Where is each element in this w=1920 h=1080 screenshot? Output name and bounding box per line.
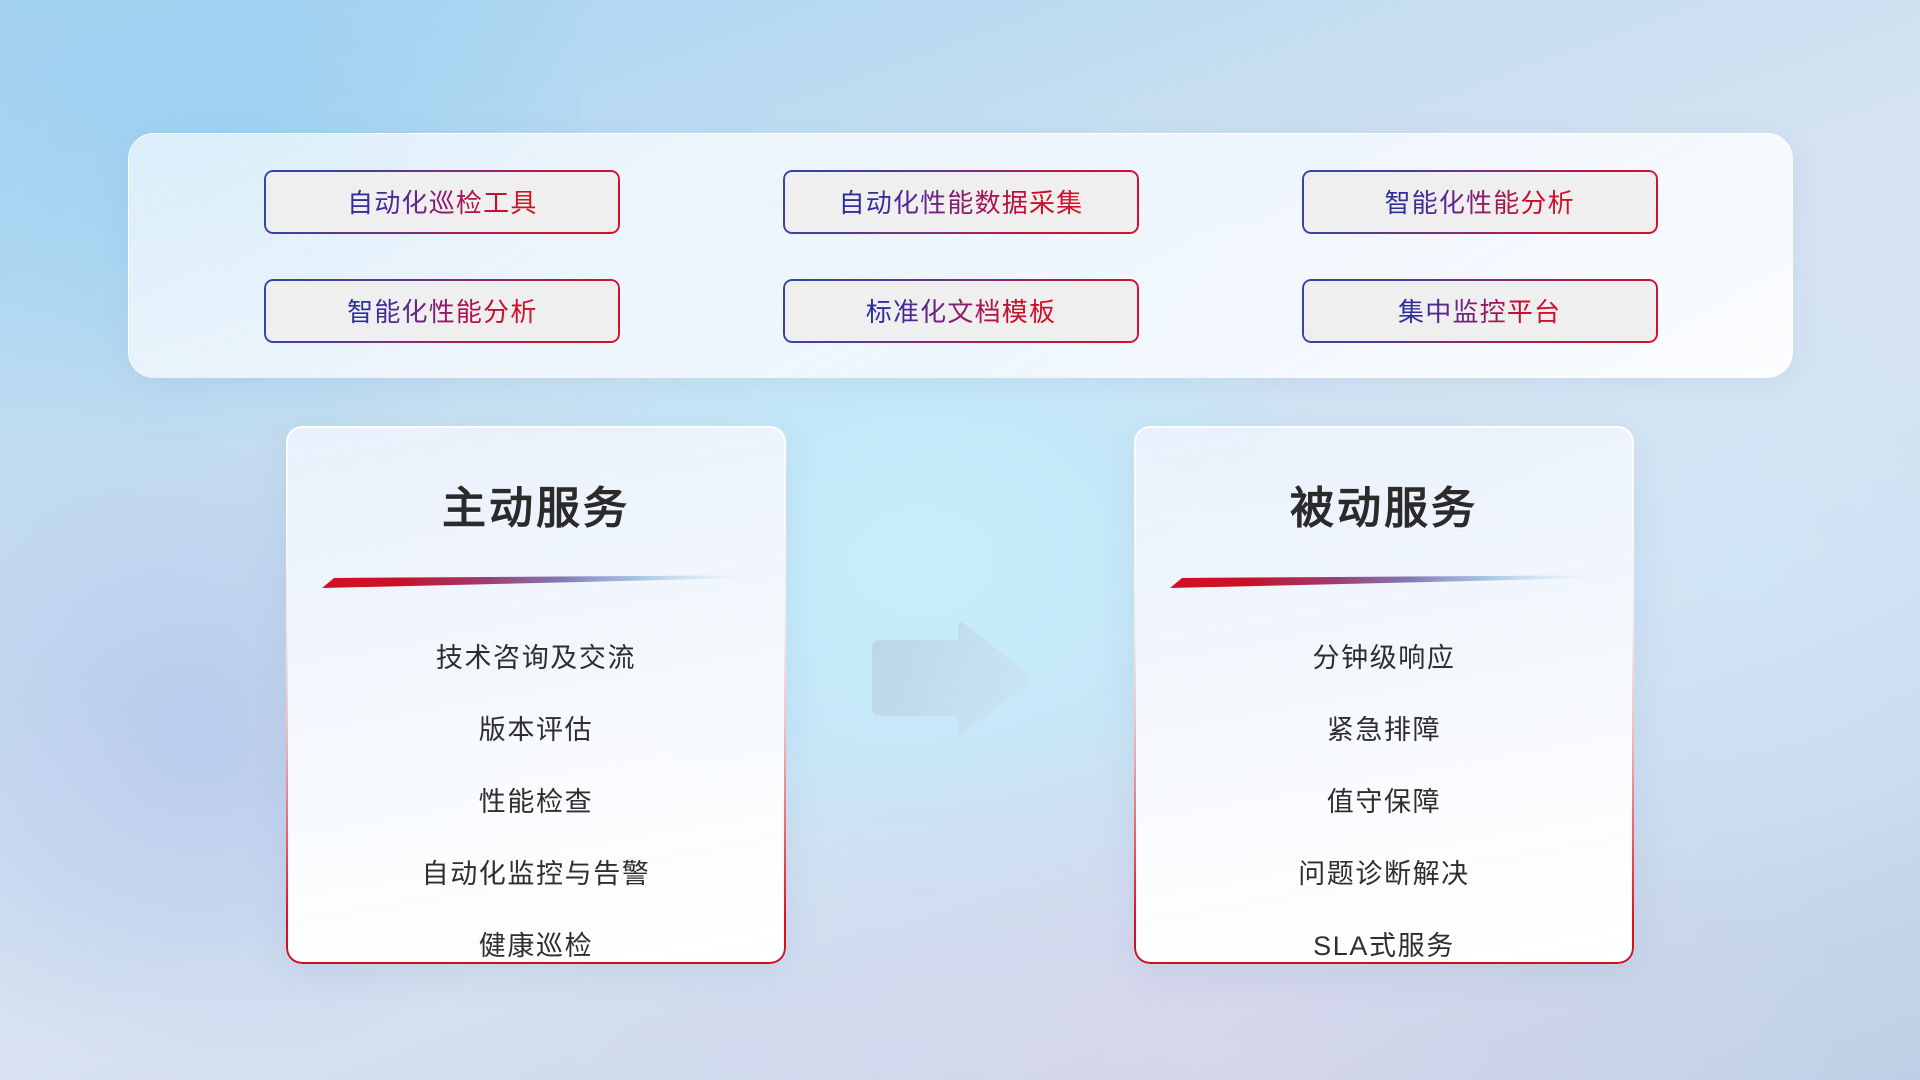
card-divider-reactive bbox=[1170, 574, 1600, 592]
card-list-proactive: 技术咨询及交流 版本评估 性能检查 自动化监控与告警 健康巡检 bbox=[286, 622, 786, 982]
diagram-stage: 自动化巡检工具 自动化性能数据采集 智能化性能分析 智能化性能分析 标准化文档模… bbox=[0, 0, 1920, 1080]
capability-panel: 自动化巡检工具 自动化性能数据采集 智能化性能分析 智能化性能分析 标准化文档模… bbox=[128, 133, 1793, 378]
card-title-proactive: 主动服务 bbox=[286, 472, 786, 536]
capability-pill-label: 智能化性能分析 bbox=[1384, 183, 1574, 220]
card-list-item: 自动化监控与告警 bbox=[422, 838, 651, 910]
card-list-item: SLA式服务 bbox=[1313, 910, 1455, 982]
capability-pill[interactable]: 智能化性能分析 bbox=[264, 279, 620, 343]
card-list-item: 问题诊断解决 bbox=[1298, 838, 1470, 910]
card-list-reactive: 分钟级响应 紧急排障 值守保障 问题诊断解决 SLA式服务 bbox=[1134, 622, 1634, 982]
card-list-item: 技术咨询及交流 bbox=[436, 622, 636, 694]
capability-pill-grid: 自动化巡检工具 自动化性能数据采集 智能化性能分析 智能化性能分析 标准化文档模… bbox=[129, 134, 1793, 378]
card-list-item: 紧急排障 bbox=[1327, 694, 1441, 766]
capability-pill-label: 标准化文档模板 bbox=[866, 292, 1056, 329]
capability-pill[interactable]: 智能化性能分析 bbox=[1302, 170, 1658, 234]
capability-pill-label: 自动化巡检工具 bbox=[347, 183, 537, 220]
right-arrow-icon bbox=[866, 618, 1032, 738]
card-list-item: 值守保障 bbox=[1327, 766, 1441, 838]
card-divider-proactive bbox=[322, 574, 752, 592]
service-card-proactive: 主动服务 技术咨询及交流 版本评估 bbox=[286, 426, 786, 964]
card-list-item: 性能检查 bbox=[479, 766, 593, 838]
capability-pill-label: 自动化性能数据采集 bbox=[839, 183, 1084, 220]
capability-pill[interactable]: 自动化性能数据采集 bbox=[783, 170, 1139, 234]
card-title-reactive: 被动服务 bbox=[1134, 472, 1634, 536]
service-card-reactive: 被动服务 分钟级响应 紧急排障 bbox=[1134, 426, 1634, 964]
card-list-item: 健康巡检 bbox=[479, 910, 593, 982]
capability-pill[interactable]: 自动化巡检工具 bbox=[264, 170, 620, 234]
card-list-item: 分钟级响应 bbox=[1313, 622, 1456, 694]
capability-pill-label: 智能化性能分析 bbox=[347, 292, 537, 329]
capability-pill[interactable]: 标准化文档模板 bbox=[783, 279, 1139, 343]
card-list-item: 版本评估 bbox=[479, 694, 593, 766]
capability-pill-label: 集中监控平台 bbox=[1398, 292, 1561, 329]
capability-pill[interactable]: 集中监控平台 bbox=[1302, 279, 1658, 343]
